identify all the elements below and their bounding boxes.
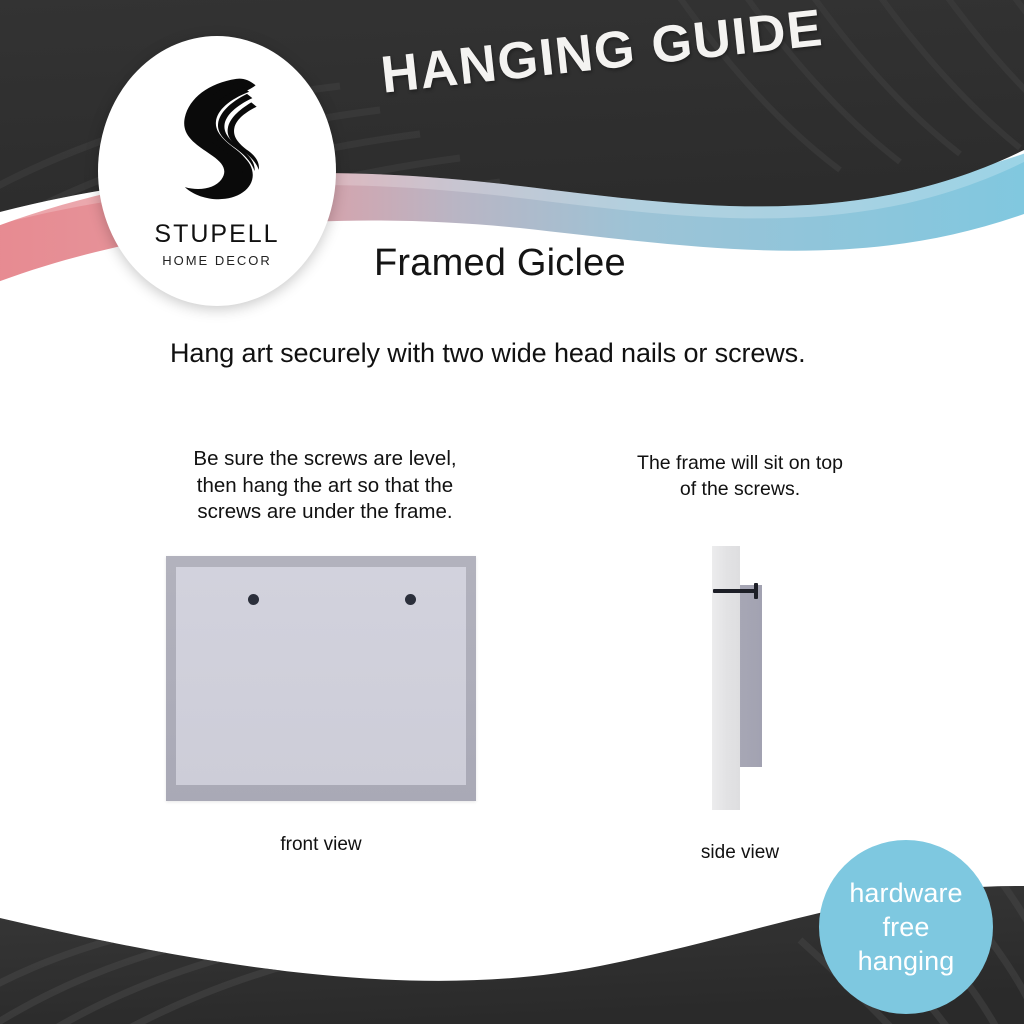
nail-icon	[713, 589, 757, 593]
brand-name: STUPELL	[154, 220, 279, 249]
front-view-instructions: Be sure the screws are level, then hang …	[160, 446, 490, 526]
screw-dot-right-icon	[405, 594, 416, 605]
side-instruction-line-2: of the screws.	[590, 476, 890, 502]
front-instruction-line-1: Be sure the screws are level,	[160, 446, 490, 473]
badge-line-3: hanging	[858, 944, 955, 978]
hanging-guide-page: STUPELL HOME DECOR HANGING GUIDE Framed …	[0, 0, 1024, 1024]
brand-tagline: HOME DECOR	[162, 253, 272, 268]
badge-line-2: free	[883, 910, 930, 944]
front-view-label: front view	[166, 834, 476, 856]
wall-surface	[712, 546, 740, 810]
side-view-label: side view	[660, 842, 820, 864]
front-instruction-line-3: screws are under the frame.	[160, 499, 490, 526]
badge-line-1: hardware	[849, 876, 962, 910]
product-type-label: Framed Giclee	[374, 242, 626, 285]
side-view-instructions: The frame will sit on top of the screws.	[590, 450, 890, 502]
brand-logo-badge: STUPELL HOME DECOR	[98, 36, 336, 306]
hardware-free-hanging-badge: hardware free hanging	[819, 840, 993, 1014]
nail-head-icon	[754, 583, 758, 599]
stupell-swan-logo-icon	[152, 66, 282, 216]
screw-dot-left-icon	[248, 594, 259, 605]
front-view-diagram	[166, 556, 476, 801]
intro-instruction: Hang art securely with two wide head nai…	[170, 338, 805, 369]
front-instruction-line-2: then hang the art so that the	[160, 473, 490, 500]
frame-mat-area	[176, 567, 466, 785]
side-instruction-line-1: The frame will sit on top	[590, 450, 890, 476]
side-view-diagram	[700, 546, 790, 816]
frame-profile	[740, 585, 762, 767]
